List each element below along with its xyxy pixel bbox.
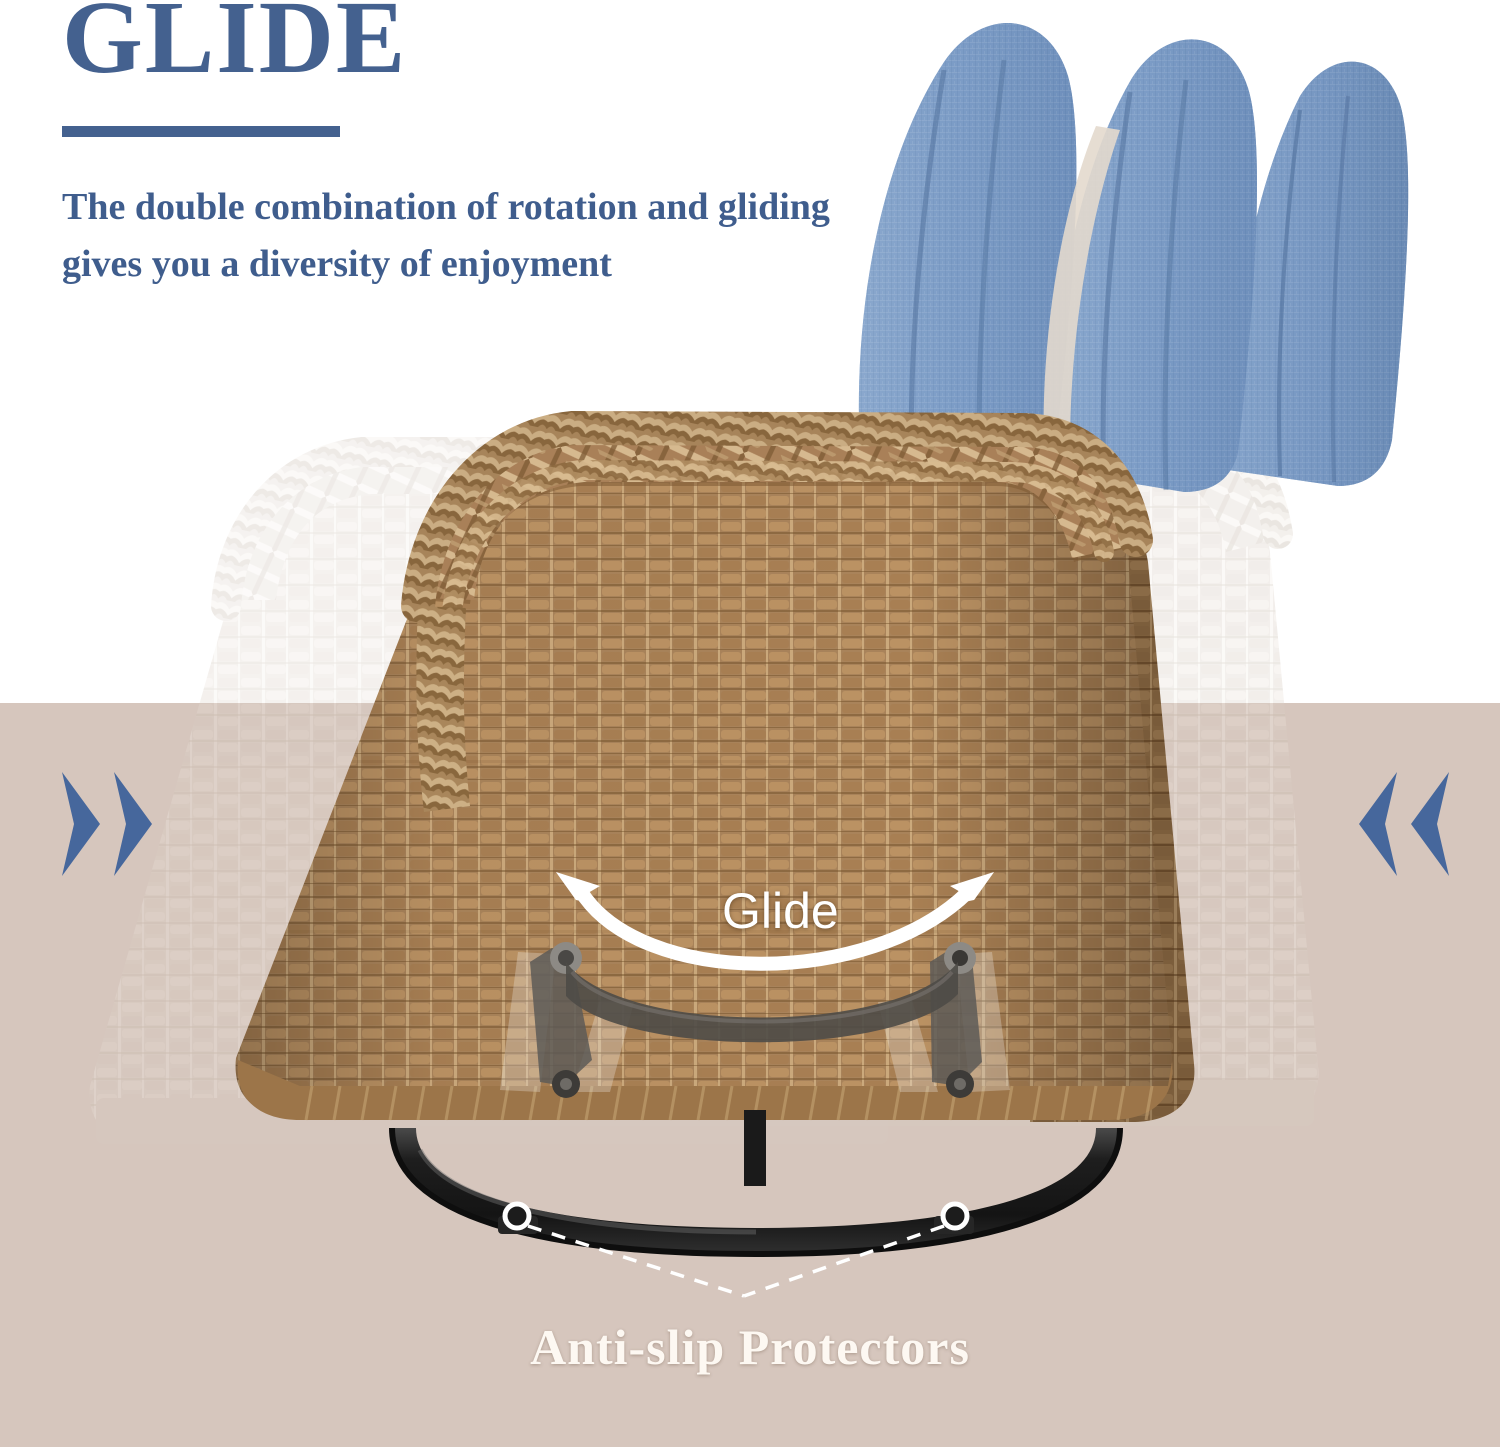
chevrons-right-icon bbox=[58, 768, 156, 880]
anti-slip-caption: Anti-slip Protectors bbox=[0, 1318, 1500, 1376]
page-title: GLIDE bbox=[62, 0, 892, 90]
chevron-left-icon-2 bbox=[1407, 768, 1453, 880]
glide-arrow-label: Glide bbox=[722, 882, 839, 940]
title-underline-rule bbox=[62, 126, 340, 137]
product-feature-image: GLIDE The double combination of rotation… bbox=[0, 0, 1500, 1447]
headline-block: GLIDE The double combination of rotation… bbox=[62, 0, 892, 293]
chevron-left-icon-1 bbox=[1355, 768, 1401, 880]
chevrons-left-icon bbox=[1355, 768, 1453, 880]
chevron-right-icon-1 bbox=[58, 768, 104, 880]
subtitle-text: The double combination of rotation and g… bbox=[62, 179, 892, 293]
chevron-right-icon-2 bbox=[110, 768, 156, 880]
